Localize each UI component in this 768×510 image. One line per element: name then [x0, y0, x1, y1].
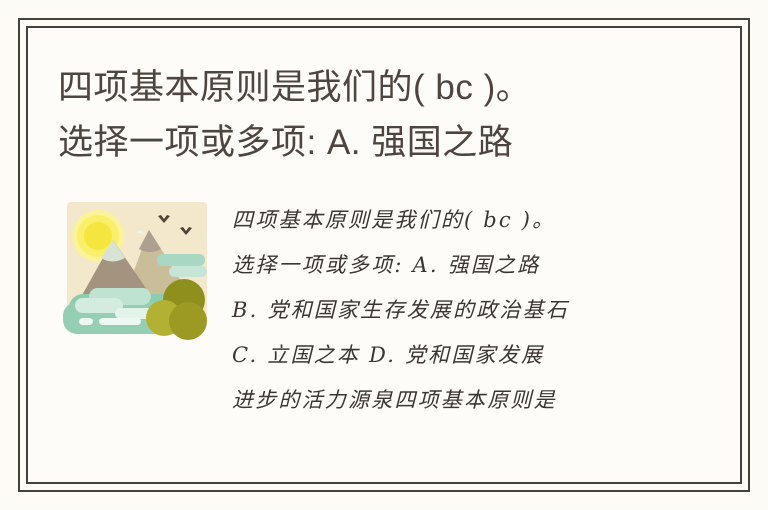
article-text-line-5: 进步的活力源泉四项基本原则是: [232, 378, 656, 423]
card-content: 四项基本原则是我们的( bc )。 选择一项或多项: A. 强国之路: [28, 28, 740, 482]
page-title: 四项基本原则是我们的( bc )。 选择一项或多项: A. 强国之路: [58, 60, 718, 170]
article-text-line-3: B. 党和国家生存发展的政治基石: [232, 288, 656, 333]
page-root: 四项基本原则是我们的( bc )。 选择一项或多项: A. 强国之路: [0, 0, 768, 510]
landscape-illustration-icon: [57, 194, 217, 354]
page-title-line-2: 选择一项或多项: A. 强国之路: [58, 115, 718, 170]
article-text-line-1: 四项基本原则是我们的( bc )。: [232, 198, 656, 243]
article-block: 四项基本原则是我们的( bc )。 选择一项或多项: A. 强国之路 B. 党和…: [28, 194, 740, 482]
article-thumbnail[interactable]: [57, 194, 217, 354]
article-text-line-2: 选择一项或多项: A. 强国之路: [232, 243, 656, 288]
page-title-line-1: 四项基本原则是我们的( bc )。: [58, 60, 718, 115]
article-text: 四项基本原则是我们的( bc )。 选择一项或多项: A. 强国之路 B. 党和…: [232, 198, 656, 423]
article-text-line-4: C. 立国之本 D. 党和国家发展: [232, 333, 656, 378]
